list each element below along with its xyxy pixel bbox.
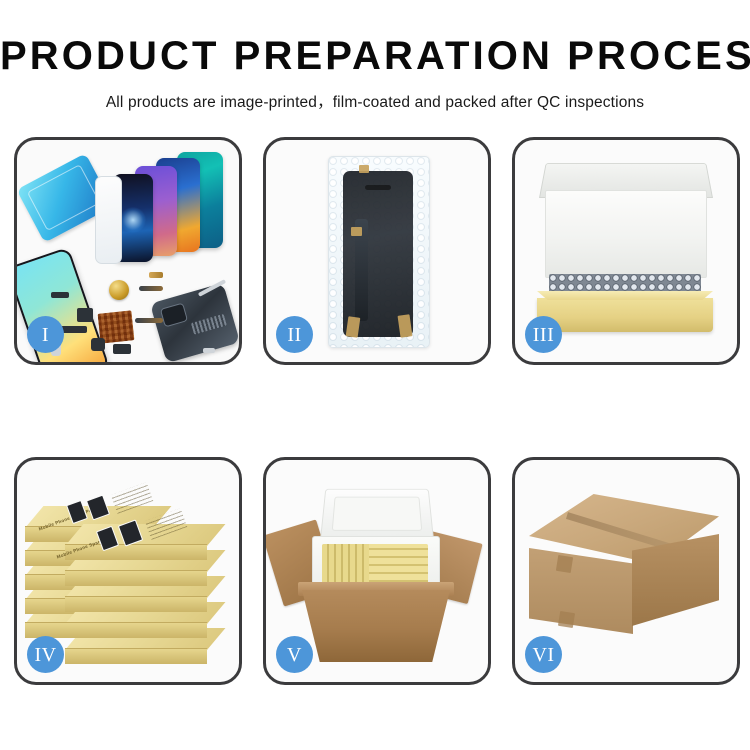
step-badge-4: IV	[27, 636, 64, 673]
tape-label-2	[351, 227, 362, 236]
part-screw-set	[203, 348, 215, 353]
tempered-glass-panel	[95, 176, 122, 264]
bubble-wrap-bag	[328, 156, 430, 348]
step-2-illustration: II	[266, 140, 488, 362]
process-step-grid: I II	[14, 137, 736, 685]
part-vibrator	[91, 338, 105, 351]
page-subtitle: All products are image-printed，film-coat…	[0, 90, 750, 112]
box-side-face	[65, 570, 207, 586]
step-5-illustration: V	[266, 460, 488, 682]
part-camera-module	[77, 308, 93, 322]
step-1-illustration: I	[17, 140, 239, 362]
carton-tape-lower	[558, 611, 575, 628]
white-foam-pad	[545, 190, 707, 278]
carton-tape-upper	[556, 555, 573, 573]
part-gold-contact	[149, 272, 163, 278]
process-step-2: II	[263, 137, 491, 365]
process-step-6: VI	[512, 457, 740, 685]
process-step-1: I	[14, 137, 242, 365]
wrapped-screen	[343, 171, 413, 337]
step-badge-1: I	[27, 316, 64, 353]
box-side-face	[65, 648, 207, 664]
speaker-module	[109, 280, 129, 300]
product-preparation-process-infographic: PRODUCT PREPARATION PROCESS All products…	[0, 0, 750, 750]
header: PRODUCT PREPARATION PROCESS All products…	[0, 36, 750, 112]
tape-label-1	[359, 165, 369, 173]
step-badge-6: VI	[525, 636, 562, 673]
process-step-3: III	[512, 137, 740, 365]
part-flex-cable-2	[135, 318, 163, 323]
step-badge-2: II	[276, 316, 313, 353]
carton-body	[302, 590, 450, 662]
phone-back-housing	[150, 283, 239, 362]
yellow-box-tray	[537, 298, 713, 332]
box-side-face	[65, 622, 207, 638]
carton-front-face	[529, 548, 633, 634]
step-3-illustration: III	[515, 140, 737, 362]
process-step-4: Mobile Phone Spare Parts Mobile Phone Sp…	[14, 457, 242, 685]
foam-box-lid	[320, 489, 434, 540]
box-side-face	[65, 596, 207, 612]
step-4-illustration: Mobile Phone Spare Parts Mobile Phone Sp…	[17, 460, 239, 682]
page-title: PRODUCT PREPARATION PROCESS	[0, 36, 750, 76]
step-badge-3: III	[525, 316, 562, 353]
step-badge-5: V	[276, 636, 313, 673]
part-buzzer	[113, 344, 131, 354]
step-6-illustration: VI	[515, 460, 737, 682]
part-flex-cable-1	[139, 286, 163, 291]
part-connector-1	[51, 292, 69, 298]
part-connector-2	[61, 326, 87, 333]
process-step-5: V	[263, 457, 491, 685]
